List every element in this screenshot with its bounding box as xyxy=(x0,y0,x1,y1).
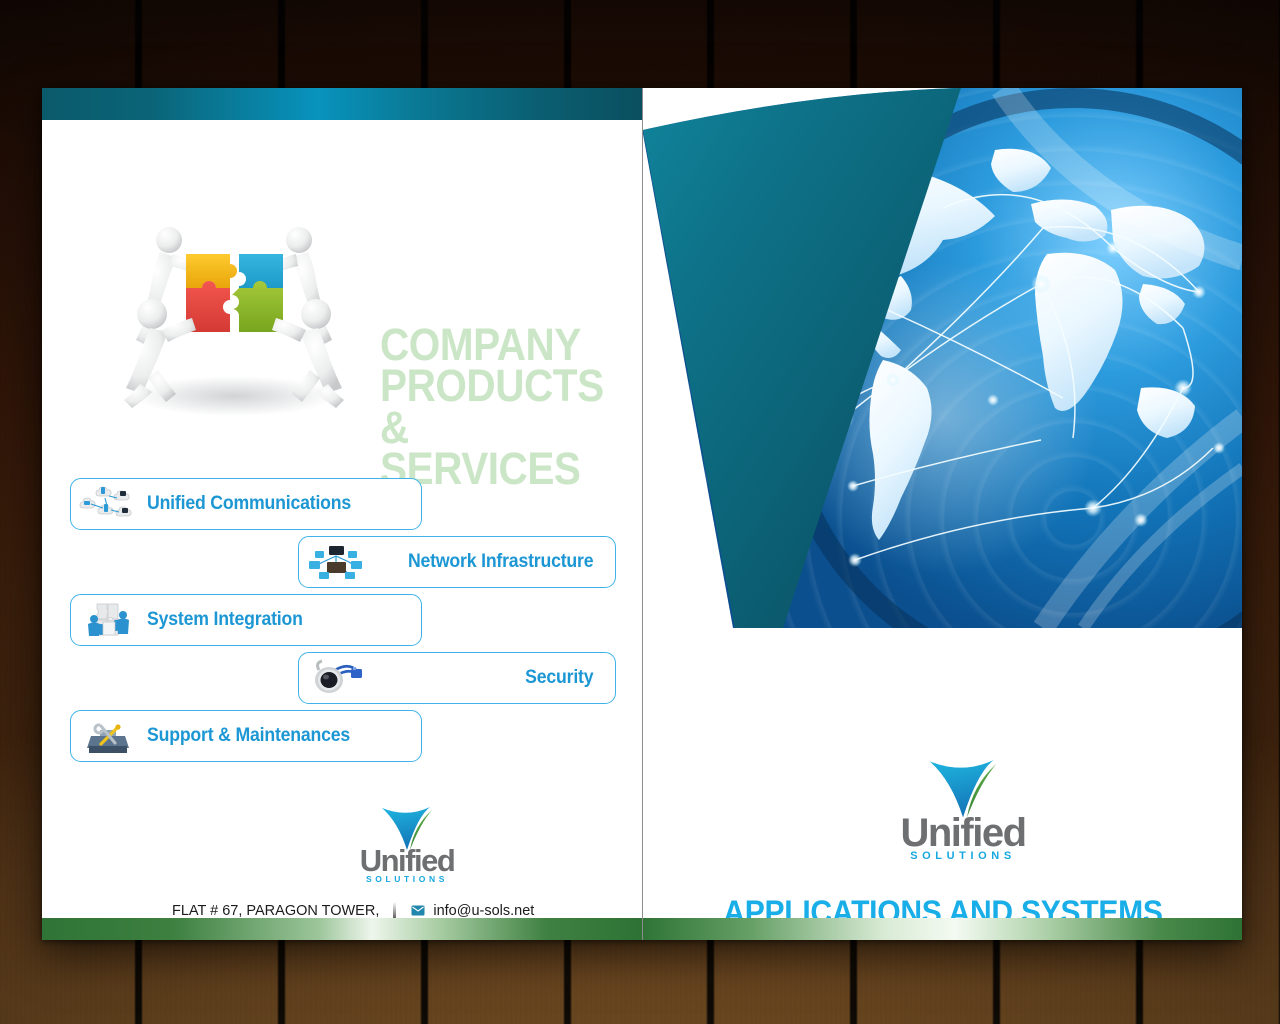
services-list: Unified Communications xyxy=(42,478,642,768)
service-item-security[interactable]: Security xyxy=(298,652,616,704)
company-logo: Unified SOLUTIONS xyxy=(883,756,1043,862)
puzzle-people-icon xyxy=(77,600,139,640)
tools-server-icon xyxy=(77,716,139,756)
service-item-network-infrastructure[interactable]: Network Infrastructure xyxy=(298,536,616,588)
envelope-icon xyxy=(411,905,433,916)
left-panel-bottom-bar xyxy=(42,918,642,940)
title-line-1: COMPANY xyxy=(380,324,641,365)
service-label: Network Infrastructure xyxy=(408,551,593,573)
global-network-globe-image xyxy=(643,88,1242,628)
service-label: Support & Maintenances xyxy=(147,725,350,747)
teal-wedge-shape xyxy=(643,88,1242,628)
logo-wordmark: Unified xyxy=(883,816,1043,850)
service-item-system-integration[interactable]: System Integration xyxy=(70,594,422,646)
right-panel-bottom-bar xyxy=(643,918,1242,940)
title-line-2: PRODUCTS & xyxy=(380,365,641,448)
puzzle-teamwork-illustration xyxy=(114,218,354,423)
service-item-support-maintenances[interactable]: Support & Maintenances xyxy=(70,710,422,762)
brochure-right-panel: Unified SOLUTIONS APPLICATIONS AND SYSTE… xyxy=(642,88,1242,940)
left-panel-top-bar xyxy=(42,88,642,120)
company-logo: Unified SOLUTIONS xyxy=(347,804,467,884)
network-diagram-icon xyxy=(305,542,367,582)
logo-wordmark: Unified xyxy=(347,848,467,874)
service-item-unified-communications[interactable]: Unified Communications xyxy=(70,478,422,530)
brochure-left-panel: COMPANY PRODUCTS & SERVICES xyxy=(42,88,642,940)
padlock-cable-icon xyxy=(305,658,367,698)
brochure-spread: COMPANY PRODUCTS & SERVICES xyxy=(42,88,1242,940)
service-label: Security xyxy=(525,667,593,689)
contact-value: info@u-sols.net xyxy=(433,903,534,919)
page-title: COMPANY PRODUCTS & SERVICES xyxy=(380,324,641,490)
cloud-network-icon xyxy=(77,484,139,524)
service-label: Unified Communications xyxy=(147,493,351,515)
service-label: System Integration xyxy=(147,609,303,631)
